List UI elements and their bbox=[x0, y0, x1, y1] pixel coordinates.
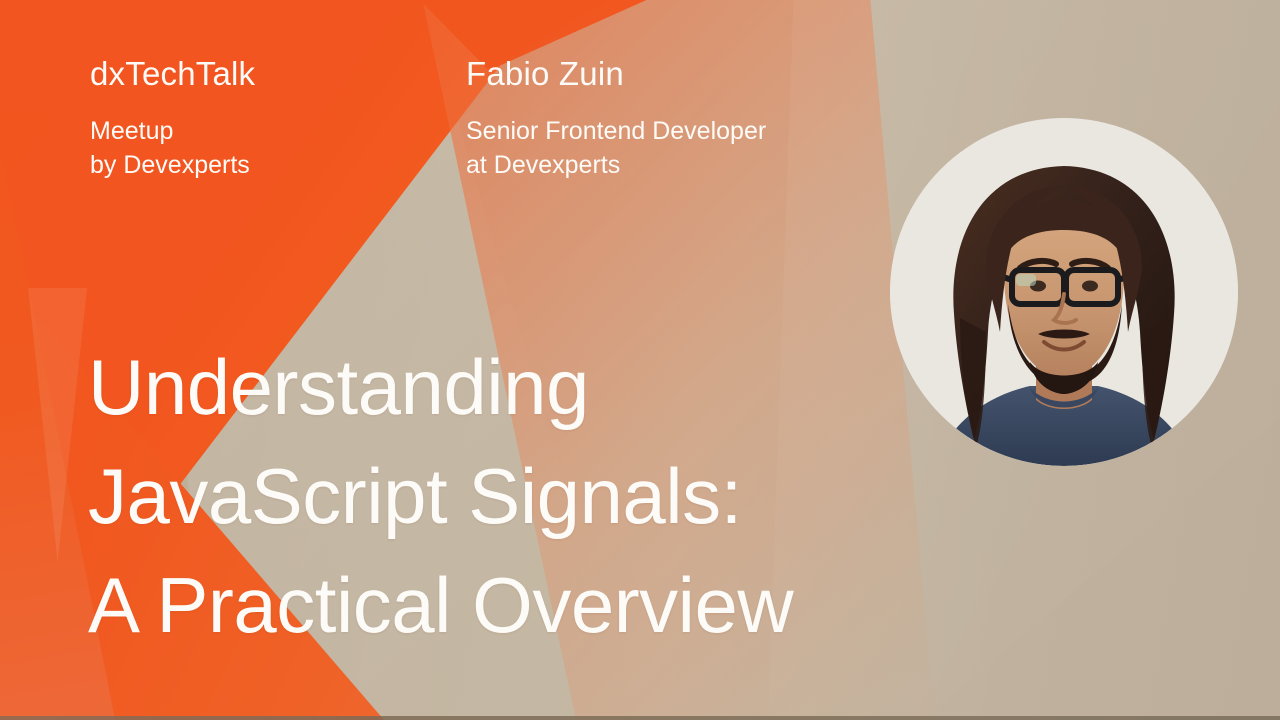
speaker-role-line1: Senior Frontend Developer bbox=[466, 114, 766, 148]
brand-block: dxTechTalk Meetup by Devexperts bbox=[90, 57, 255, 182]
talk-title: Understanding JavaScript Signals: A Prac… bbox=[88, 333, 793, 661]
portrait-illustration bbox=[890, 118, 1238, 466]
speaker-role-line2: at Devexperts bbox=[466, 148, 766, 182]
brand-subtitle-line2: by Devexperts bbox=[90, 148, 255, 182]
brand-subtitle-line1: Meetup bbox=[90, 114, 255, 148]
speaker-avatar bbox=[890, 118, 1238, 466]
bottom-edge-bar bbox=[0, 716, 1280, 720]
speaker-block: Fabio Zuin Senior Frontend Developer at … bbox=[466, 57, 766, 182]
brand-title: dxTechTalk bbox=[90, 57, 255, 90]
talk-title-slide: dxTechTalk Meetup by Devexperts Fabio Zu… bbox=[0, 0, 1280, 720]
speaker-name: Fabio Zuin bbox=[466, 57, 766, 90]
